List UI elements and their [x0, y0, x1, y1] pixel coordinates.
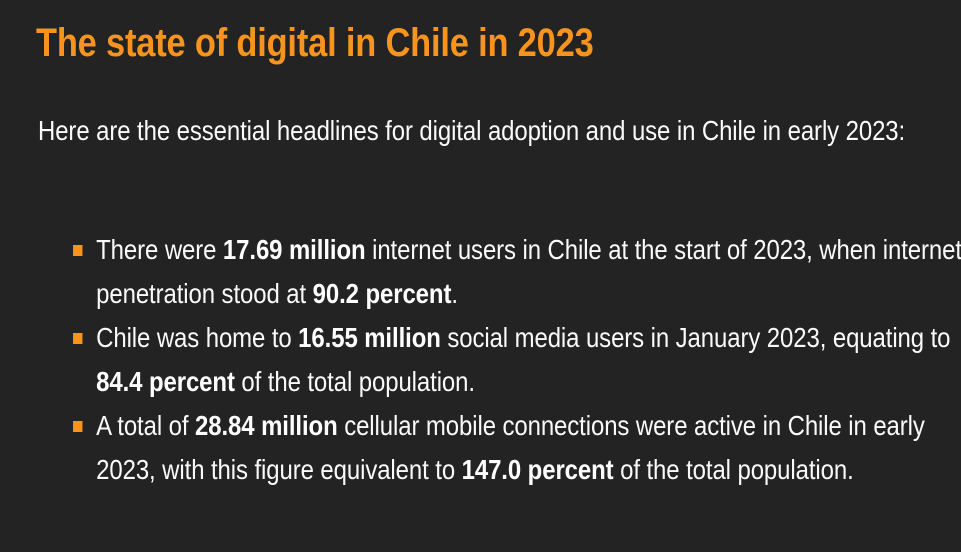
- list-item: There were 17.69 million internet users …: [38, 228, 961, 316]
- square-bullet-icon: [73, 333, 82, 344]
- list-item: Chile was home to 16.55 million social m…: [38, 316, 961, 404]
- list-item-text: Chile was home to 16.55 million social m…: [96, 322, 950, 397]
- page-title: The state of digital in Chile in 2023: [36, 18, 594, 68]
- digital-report-slide: The state of digital in Chile in 2023 He…: [0, 0, 961, 552]
- list-item-text: There were 17.69 million internet users …: [96, 234, 961, 309]
- square-bullet-icon: [73, 421, 82, 432]
- list-item: A total of 28.84 million cellular mobile…: [38, 404, 961, 492]
- intro-paragraph: Here are the essential headlines for dig…: [38, 108, 957, 154]
- list-item-text: A total of 28.84 million cellular mobile…: [96, 410, 925, 485]
- square-bullet-icon: [73, 245, 82, 256]
- headline-bullet-list: There were 17.69 million internet users …: [38, 228, 961, 492]
